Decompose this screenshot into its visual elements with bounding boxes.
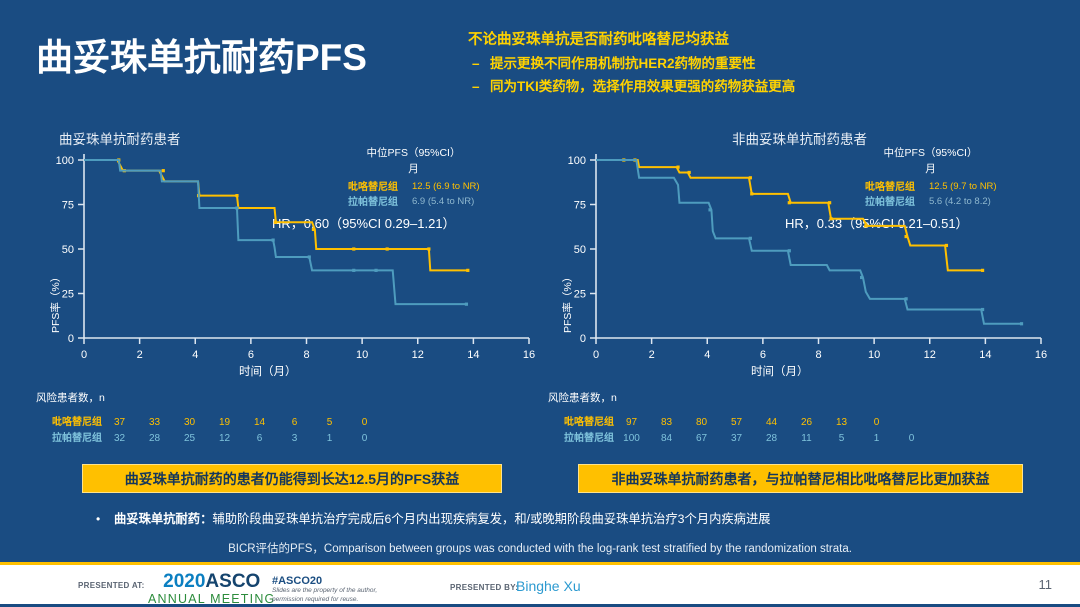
censor-mark bbox=[235, 206, 238, 209]
x-tick-label: 14 bbox=[467, 349, 479, 361]
x-tick-label: 2 bbox=[649, 349, 655, 361]
y-tick-label: 0 bbox=[68, 333, 74, 345]
censor-mark bbox=[688, 171, 691, 174]
risk-cell: 6 bbox=[277, 415, 312, 431]
disclaimer-line-2: permission required for reuse. bbox=[272, 596, 377, 605]
risk-cell: 25 bbox=[172, 431, 207, 447]
y-tick-label: 75 bbox=[574, 200, 586, 212]
risk-cell: 100 bbox=[614, 431, 649, 447]
presented-at-label: PRESENTED AT: bbox=[78, 581, 145, 590]
risk-cell: 80 bbox=[684, 415, 719, 431]
risk-cells: 322825126310 bbox=[102, 431, 382, 447]
risk-cell: 11 bbox=[789, 431, 824, 447]
risk-cell: 37 bbox=[102, 415, 137, 431]
risk-row-pyrotinib-left: 吡咯替尼组 3733301914650 bbox=[36, 415, 382, 431]
censor-mark bbox=[828, 201, 831, 204]
risk-cell: 32 bbox=[102, 431, 137, 447]
risk-cell: 0 bbox=[347, 431, 382, 447]
risk-cell: 0 bbox=[894, 431, 929, 447]
y-tick-label: 25 bbox=[574, 289, 586, 301]
header-bullet-1-text: 提示更换不同作用机制抗HER2药物的重要性 bbox=[490, 52, 756, 76]
hashtag-block: #ASCO20 Slides are the property of the a… bbox=[272, 575, 377, 605]
dash-marker: – bbox=[468, 75, 490, 99]
censor-mark bbox=[708, 208, 711, 211]
risk-cell: 67 bbox=[684, 431, 719, 447]
x-tick-label: 8 bbox=[303, 349, 309, 361]
censor-mark bbox=[981, 269, 984, 272]
risk-cell: 84 bbox=[649, 431, 684, 447]
risk-cell: 12 bbox=[207, 431, 242, 447]
risk-cell: 5 bbox=[824, 431, 859, 447]
risk-cell: 26 bbox=[789, 415, 824, 431]
x-tick-label: 4 bbox=[704, 349, 710, 361]
definition-text: 曲妥珠单抗耐药：辅助阶段曲妥珠单抗治疗完成后6个月内出现疾病复发，和/或晚期阶段… bbox=[114, 512, 771, 528]
x-tick-label: 0 bbox=[593, 349, 599, 361]
censor-mark bbox=[427, 247, 430, 250]
x-tick-label: 2 bbox=[137, 349, 143, 361]
censor-mark bbox=[374, 269, 377, 272]
censor-mark bbox=[864, 224, 867, 227]
y-tick-label: 50 bbox=[574, 244, 586, 256]
risk-cell: 37 bbox=[719, 431, 754, 447]
definition-body: 辅助阶段曲妥珠单抗治疗完成后6个月内出现疾病复发，和/或晚期阶段曲妥珠单抗治疗3… bbox=[212, 512, 770, 526]
risk-table-header-left: 风险患者数，n bbox=[36, 390, 382, 405]
censor-mark bbox=[860, 276, 863, 279]
risk-row-lapatinib-left: 拉帕替尼组 322825126310 bbox=[36, 431, 382, 447]
risk-table-left: 风险患者数，n 吡咯替尼组 3733301914650 拉帕替尼组 322825… bbox=[36, 390, 382, 446]
censor-mark bbox=[274, 221, 277, 224]
risk-cell: 0 bbox=[859, 415, 894, 431]
risk-cell: 0 bbox=[347, 415, 382, 431]
risk-cell: 3 bbox=[277, 431, 312, 447]
risk-cell: 44 bbox=[754, 415, 789, 431]
risk-cell: 28 bbox=[754, 431, 789, 447]
risk-cell: 14 bbox=[242, 415, 277, 431]
censor-mark bbox=[352, 269, 355, 272]
header-bullet-2: – 同为TKI类药物，选择作用效果更强的药物获益更高 bbox=[468, 75, 1068, 99]
risk-row-label: 吡咯替尼组 bbox=[36, 415, 102, 431]
y-tick-label: 0 bbox=[580, 333, 586, 345]
header-bullet-1: – 提示更换不同作用机制抗HER2药物的重要性 bbox=[468, 52, 1068, 76]
x-tick-label: 10 bbox=[356, 349, 368, 361]
x-tick-label: 10 bbox=[868, 349, 880, 361]
risk-cell: 13 bbox=[824, 415, 859, 431]
x-axis-title-right: 时间（月） bbox=[751, 363, 809, 379]
definition-term: 曲妥珠单抗耐药： bbox=[114, 512, 212, 526]
censor-mark bbox=[905, 235, 908, 238]
callout-right: 非曲妥珠单抗耐药患者，与拉帕替尼相比吡咯替尼比更加获益 bbox=[578, 464, 1023, 493]
disclaimer-line-1: Slides are the property of the author, bbox=[272, 587, 377, 596]
censor-mark bbox=[905, 297, 908, 300]
page-number: 11 bbox=[1039, 577, 1053, 592]
km-series-lapatinib bbox=[596, 160, 1022, 324]
censor-mark bbox=[750, 192, 753, 195]
bullet-dot: • bbox=[96, 512, 114, 528]
x-tick-label: 16 bbox=[1035, 349, 1047, 361]
censor-mark bbox=[312, 228, 315, 231]
censor-mark bbox=[308, 255, 311, 258]
censor-mark bbox=[981, 308, 984, 311]
censor-mark bbox=[945, 244, 948, 247]
risk-cells: 1008467372811510 bbox=[614, 431, 929, 447]
presenter-name: Binghe Xu bbox=[516, 578, 581, 594]
risk-cell: 28 bbox=[137, 431, 172, 447]
risk-cell: 97 bbox=[614, 415, 649, 431]
x-tick-label: 12 bbox=[924, 349, 936, 361]
hashtag: #ASCO20 bbox=[272, 575, 377, 587]
asco-name: ASCO bbox=[205, 571, 260, 592]
censor-mark bbox=[465, 303, 468, 306]
page-title: 曲妥珠单抗耐药PFS bbox=[36, 38, 367, 79]
x-tick-label: 12 bbox=[412, 349, 424, 361]
x-tick-label: 6 bbox=[760, 349, 766, 361]
asco-logo-title: 2020ASCO bbox=[148, 572, 275, 591]
censor-mark bbox=[235, 194, 238, 197]
risk-row-pyrotinib-right: 吡咯替尼组 978380574426130 bbox=[548, 415, 929, 431]
header-main-text: 不论曲妥珠单抗是否耐药吡咯替尼均获益 bbox=[468, 30, 1068, 52]
risk-cell: 57 bbox=[719, 415, 754, 431]
censor-mark bbox=[788, 249, 791, 252]
x-tick-label: 4 bbox=[192, 349, 198, 361]
risk-cells: 3733301914650 bbox=[102, 415, 382, 431]
censor-mark bbox=[1020, 322, 1023, 325]
y-tick-label: 100 bbox=[568, 155, 586, 167]
x-tick-label: 8 bbox=[815, 349, 821, 361]
censor-mark bbox=[386, 247, 389, 250]
callout-left: 曲妥珠单抗耐药的患者仍能得到长达12.5月的PFS获益 bbox=[82, 464, 502, 493]
risk-cell bbox=[894, 415, 929, 431]
x-tick-label: 16 bbox=[523, 349, 535, 361]
asco-year: 2020 bbox=[163, 571, 205, 592]
censor-mark bbox=[829, 217, 832, 220]
censor-mark bbox=[676, 166, 679, 169]
header-bullet-2-text: 同为TKI类药物，选择作用效果更强的药物获益更高 bbox=[490, 75, 795, 99]
x-axis-title-left: 时间（月） bbox=[239, 363, 297, 379]
slide-footer: PRESENTED AT: 2020ASCO ANNUAL MEETING #A… bbox=[0, 562, 1080, 604]
header-callout: 不论曲妥珠单抗是否耐药吡咯替尼均获益 – 提示更换不同作用机制抗HER2药物的重… bbox=[468, 30, 1068, 99]
risk-row-label: 拉帕替尼组 bbox=[36, 431, 102, 447]
risk-cell: 83 bbox=[649, 415, 684, 431]
y-tick-label: 50 bbox=[62, 244, 74, 256]
risk-cell: 6 bbox=[242, 431, 277, 447]
x-tick-label: 0 bbox=[81, 349, 87, 361]
risk-cell: 30 bbox=[172, 415, 207, 431]
risk-table-right: 风险患者数，n 吡咯替尼组 978380574426130 拉帕替尼组 1008… bbox=[548, 390, 929, 446]
censor-mark bbox=[352, 247, 355, 250]
definition-bullet: • 曲妥珠单抗耐药：辅助阶段曲妥珠单抗治疗完成后6个月内出现疾病复发，和/或晚期… bbox=[96, 512, 1046, 528]
risk-cell: 19 bbox=[207, 415, 242, 431]
footnote: BICR评估的PFS，Comparison between groups was… bbox=[0, 540, 1080, 556]
km-series-lapatinib bbox=[84, 160, 466, 304]
asco-subtitle: ANNUAL MEETING bbox=[148, 591, 275, 607]
asco-logo: 2020ASCO ANNUAL MEETING bbox=[148, 572, 275, 607]
censor-mark bbox=[466, 269, 469, 272]
y-tick-label: 100 bbox=[56, 155, 74, 167]
x-tick-label: 14 bbox=[979, 349, 991, 361]
censor-mark bbox=[749, 237, 752, 240]
censor-mark bbox=[272, 239, 275, 242]
risk-table-header-right: 风险患者数，n bbox=[548, 390, 929, 405]
x-tick-label: 6 bbox=[248, 349, 254, 361]
risk-row-lapatinib-right: 拉帕替尼组 1008467372811510 bbox=[548, 431, 929, 447]
risk-cell: 5 bbox=[312, 415, 347, 431]
y-tick-label: 25 bbox=[62, 289, 74, 301]
dash-marker: – bbox=[468, 52, 490, 76]
censor-mark bbox=[788, 201, 791, 204]
panel-trastuzumab-resistant: 曲妥珠单抗耐药患者 中位PFS（95%CI） 月 吡咯替尼组 12.5 (6.9… bbox=[24, 118, 544, 458]
y-tick-label: 75 bbox=[62, 200, 74, 212]
slide-root: 曲妥珠单抗耐药PFS 不论曲妥珠单抗是否耐药吡咯替尼均获益 – 提示更换不同作用… bbox=[0, 0, 1080, 604]
presented-by-label: PRESENTED BY: bbox=[450, 583, 518, 592]
risk-cells: 978380574426130 bbox=[614, 415, 929, 431]
panel-non-trastuzumab-resistant: 非曲妥珠单抗耐药患者 中位PFS（95%CI） 月 吡咯替尼组 12.5 (9.… bbox=[536, 118, 1056, 458]
risk-cell: 1 bbox=[859, 431, 894, 447]
risk-cell: 33 bbox=[137, 415, 172, 431]
risk-row-label: 吡咯替尼组 bbox=[548, 415, 614, 431]
risk-cell: 1 bbox=[312, 431, 347, 447]
censor-mark bbox=[749, 176, 752, 179]
censor-mark bbox=[162, 169, 165, 172]
risk-row-label: 拉帕替尼组 bbox=[548, 431, 614, 447]
